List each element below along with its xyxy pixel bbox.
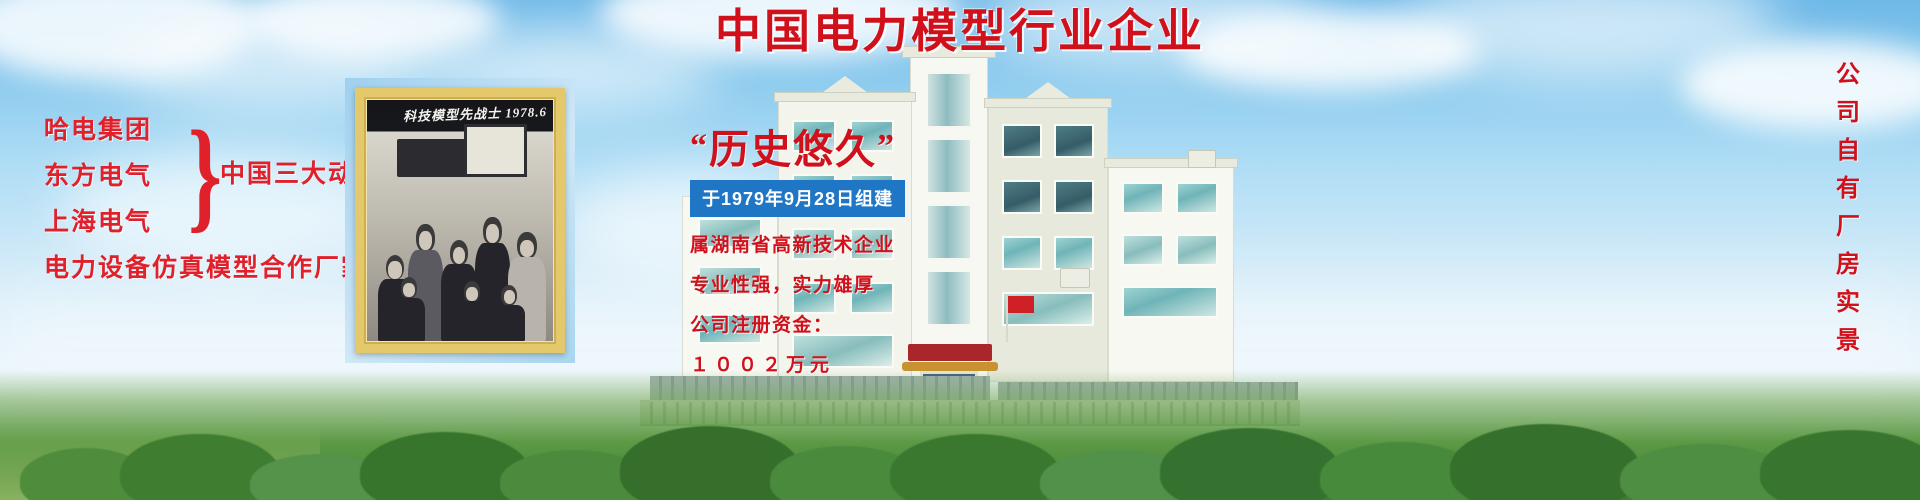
brand-item-2: 东方电气: [44, 156, 152, 192]
vertical-char-2: 司: [1828, 94, 1868, 132]
info-line-3: 公司注册资金：: [690, 310, 920, 337]
slogan-line: “历史悠久”: [690, 128, 920, 172]
framed-photo: 科技模型先战士 1978.6: [345, 78, 575, 363]
historical-group-photo: 科技模型先战士 1978.6: [367, 100, 553, 341]
vertical-char-5: 厂: [1828, 208, 1868, 246]
quote-open-mark: “: [690, 128, 709, 165]
slogan-text: 历史悠久: [709, 128, 877, 172]
brand-item-3: 上海电气: [44, 202, 152, 238]
promo-banner: 中国电力模型行业企业 哈电集团 东方电气 上海电气 } 中国三大动力 电力设备仿…: [0, 0, 1920, 500]
brace-icon: }: [188, 102, 222, 247]
photo-people-group: [367, 153, 553, 341]
brand-item-1: 哈电集团: [44, 110, 152, 146]
info-line-4: １００２万元: [690, 350, 920, 377]
photo-caption: 科技模型先战士 1978.6: [377, 101, 548, 126]
right-vertical-caption: 公 司 自 有 厂 房 实 景: [1828, 56, 1868, 360]
quote-close-mark: ”: [877, 128, 896, 165]
photo-frame-border: 科技模型先战士 1978.6: [355, 88, 565, 353]
vertical-char-3: 自: [1828, 132, 1868, 170]
tree-line: [0, 392, 1920, 500]
vertical-char-6: 房: [1828, 246, 1868, 284]
vertical-char-7: 实: [1828, 284, 1868, 322]
info-line-1: 属湖南省高新技术企业: [690, 230, 920, 257]
center-text-block: “历史悠久” 于1979年9月28日组建 属湖南省高新技术企业 专业性强，实力雄…: [690, 128, 920, 377]
brand-list: 哈电集团 东方电气 上海电气 } 中国三大动力: [40, 108, 370, 226]
vertical-char-1: 公: [1828, 56, 1868, 94]
left-footer-text: 电力设备仿真模型合作厂家: [44, 248, 368, 284]
info-line-2: 专业性强，实力雄厚: [690, 270, 920, 297]
vertical-char-4: 有: [1828, 170, 1868, 208]
founding-date-badge: 于1979年9月28日组建: [690, 180, 905, 217]
vertical-char-8: 景: [1828, 322, 1868, 360]
banner-headline: 中国电力模型行业企业: [0, 8, 1920, 54]
left-text-block: 哈电集团 东方电气 上海电气 } 中国三大动力 电力设备仿真模型合作厂家: [40, 108, 370, 226]
